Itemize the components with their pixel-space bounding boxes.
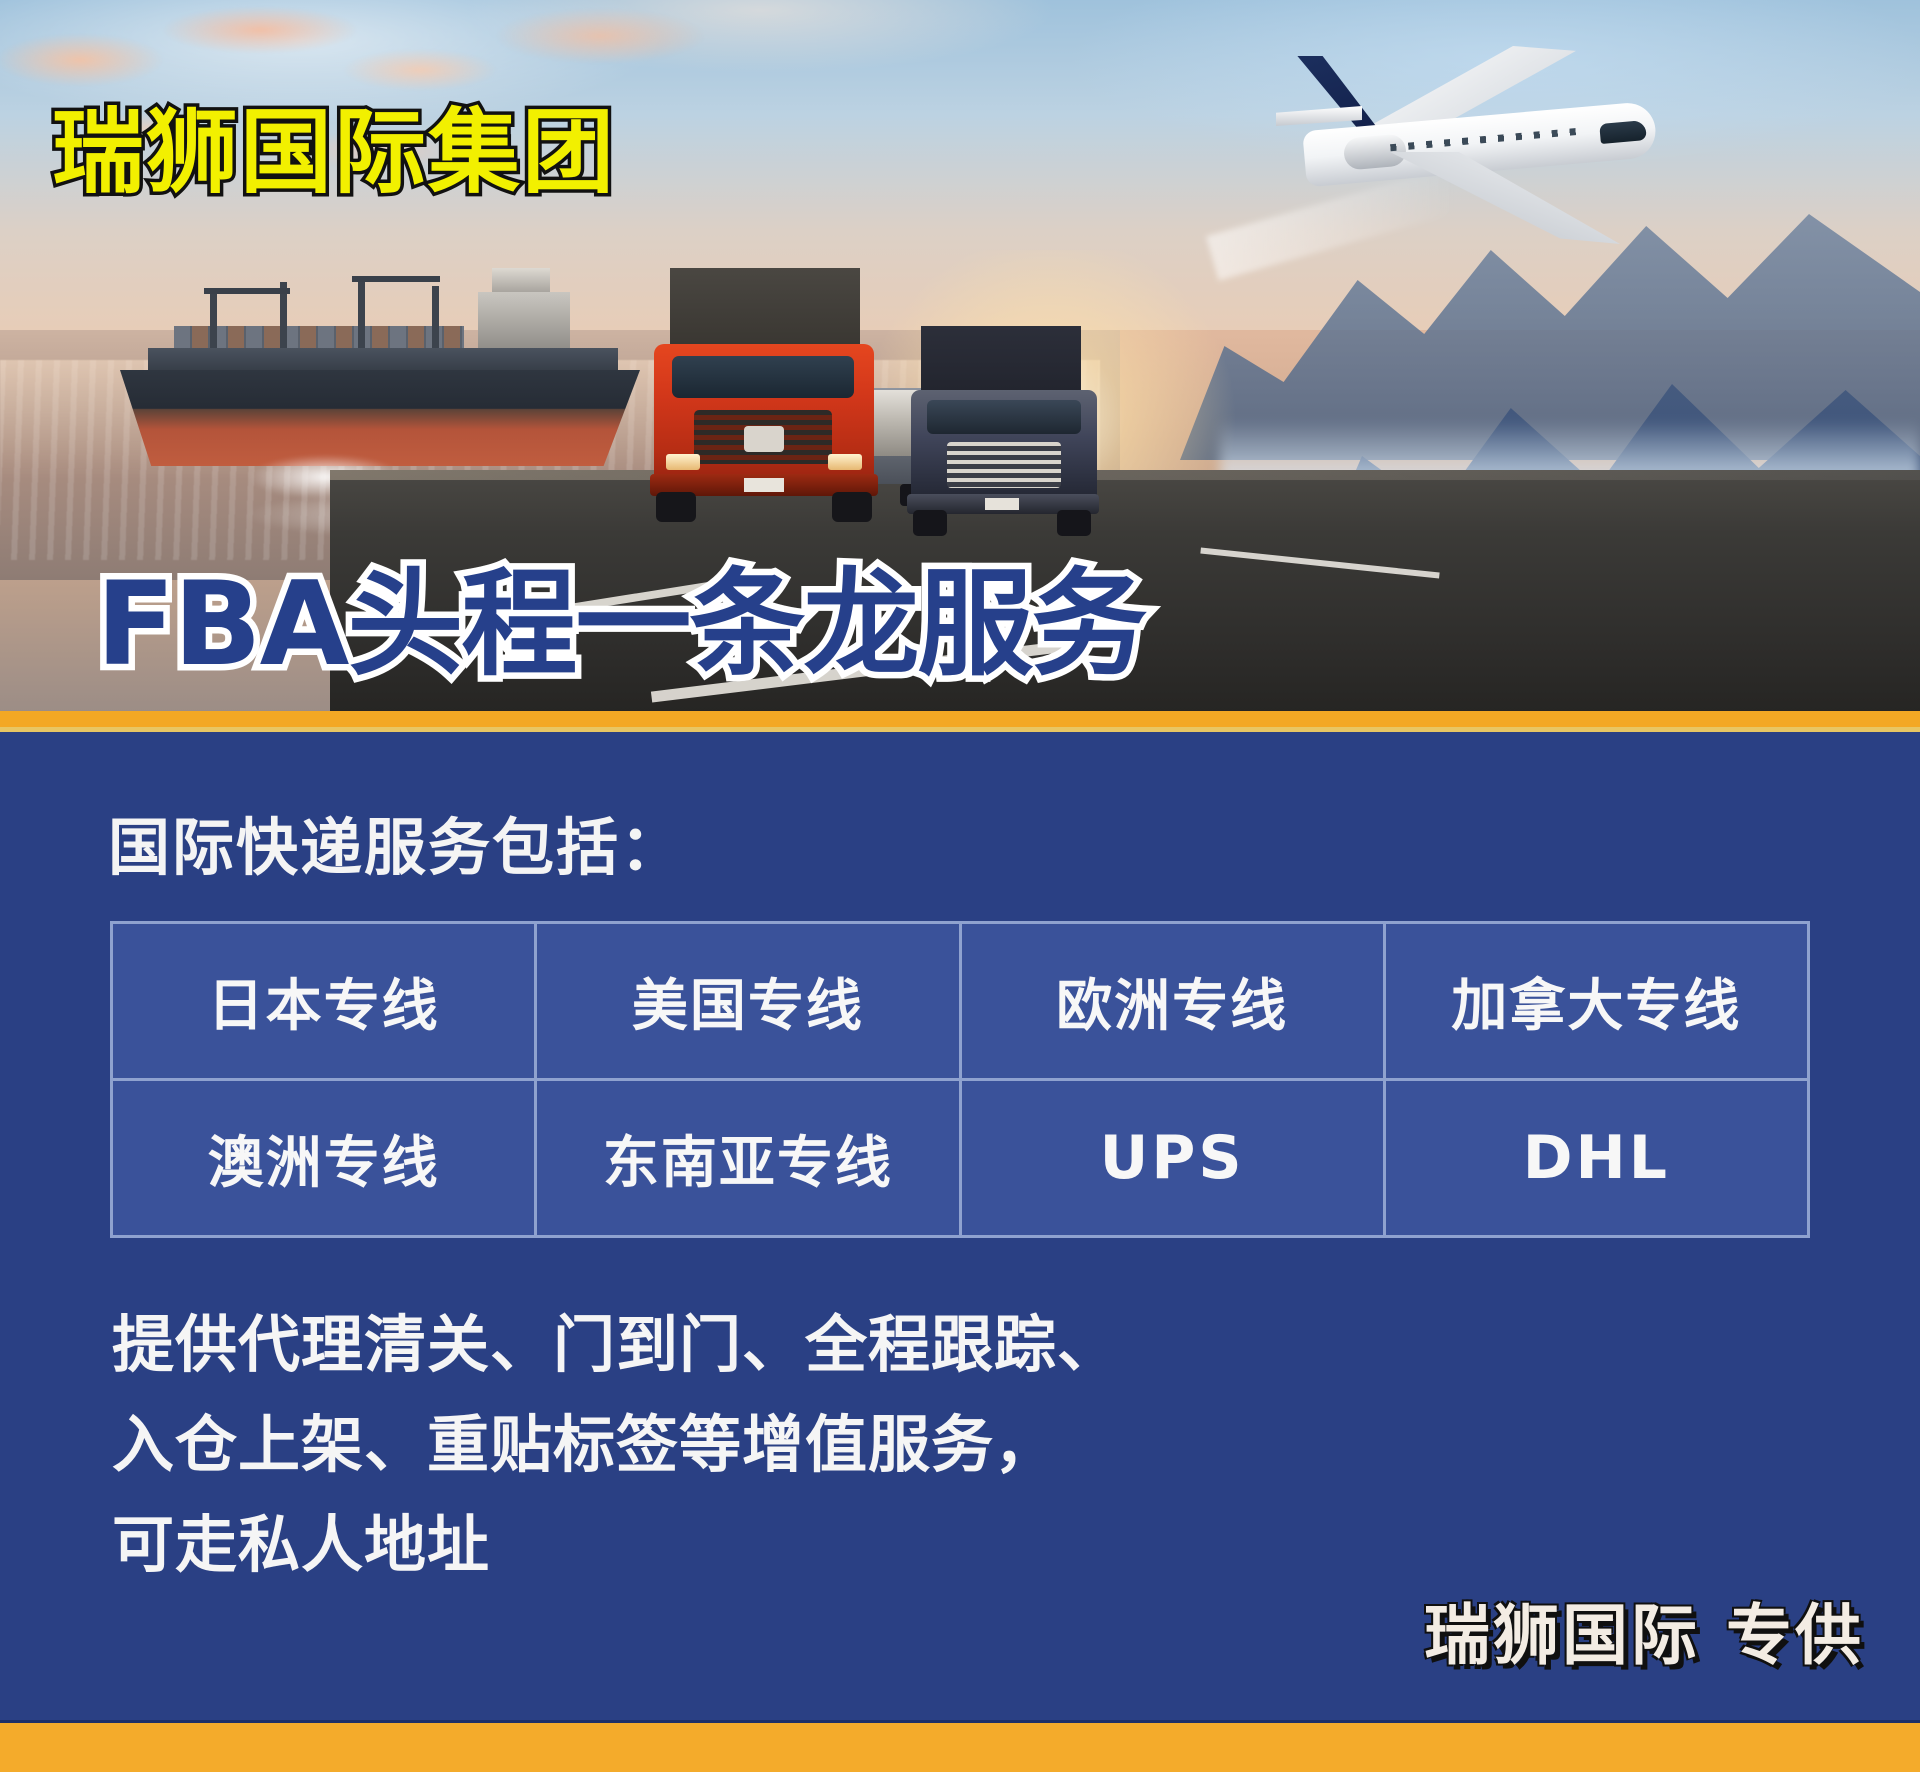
brand-name-top: 瑞狮国际集团 <box>52 78 616 211</box>
poster-root: 瑞狮国际集团 FBA头程一条龙服务 国际快递服务包括： 日本专线 美国专线 欧洲… <box>0 0 1920 1772</box>
red-truck-wheel-right <box>832 492 872 522</box>
services-table: 日本专线 美国专线 欧洲专线 加拿大专线 澳洲专线 东南亚专线 UPS DHL <box>110 921 1810 1238</box>
table-cell-southeast-asia: 东南亚专线 <box>536 1080 960 1237</box>
dark-truck-icon <box>905 316 1105 528</box>
divider-band-orange <box>0 711 1920 727</box>
table-row: 澳洲专线 东南亚专线 UPS DHL <box>112 1080 1809 1237</box>
table-cell-dhl: DHL <box>1384 1080 1808 1237</box>
red-truck-headlight-right <box>828 454 862 470</box>
bottom-strip-orange <box>0 1723 1920 1772</box>
ship-crane-1 <box>210 288 217 350</box>
poster-headline: FBA头程一条龙服务 <box>96 530 1145 698</box>
red-truck-badge <box>744 426 784 452</box>
red-truck-license-plate <box>744 478 784 492</box>
airplane-icon <box>1270 40 1700 240</box>
ship-superstructure <box>478 292 570 352</box>
red-truck-windshield <box>672 356 854 398</box>
table-cell-europe: 欧洲专线 <box>960 923 1384 1080</box>
dark-truck-license-plate <box>985 498 1019 510</box>
copy-line-2: 入仓上架、重贴标签等增值服务， <box>112 1395 1120 1495</box>
table-cell-japan: 日本专线 <box>112 923 536 1080</box>
ship-crane-3 <box>358 276 365 350</box>
red-truck-headlight-left <box>666 454 700 470</box>
value-added-services-copy: 提供代理清关、门到门、全程跟踪、 入仓上架、重贴标签等增值服务， 可走私人地址 <box>112 1295 1120 1595</box>
table-cell-usa: 美国专线 <box>536 923 960 1080</box>
plane-cockpit-window <box>1599 120 1647 144</box>
dark-truck-windshield <box>927 400 1081 434</box>
section-heading: 国际快递服务包括： <box>108 797 684 887</box>
ship-crane-arm-1 <box>204 288 290 294</box>
road-edge <box>330 470 1920 480</box>
red-truck-wheel-left <box>656 492 696 522</box>
copy-line-1: 提供代理清关、门到门、全程跟踪、 <box>112 1295 1120 1395</box>
ship-crane-4 <box>432 286 439 350</box>
hero-photo-collage: 瑞狮国际集团 FBA头程一条龙服务 <box>0 0 1920 712</box>
table-cell-canada: 加拿大专线 <box>1384 923 1808 1080</box>
table-cell-ups: UPS <box>960 1080 1384 1237</box>
brand-signature: 瑞狮国际 专供 <box>1424 1582 1864 1678</box>
table-row: 日本专线 美国专线 欧洲专线 加拿大专线 <box>112 923 1809 1080</box>
copy-line-3: 可走私人地址 <box>112 1495 1120 1595</box>
plane-horizontal-stabilizer <box>1276 106 1362 126</box>
red-truck-icon <box>648 268 880 520</box>
ship-crane-arm-2 <box>352 276 440 282</box>
table-cell-australia: 澳洲专线 <box>112 1080 536 1237</box>
dark-truck-grille <box>947 442 1061 488</box>
cargo-ship-icon <box>120 252 640 482</box>
